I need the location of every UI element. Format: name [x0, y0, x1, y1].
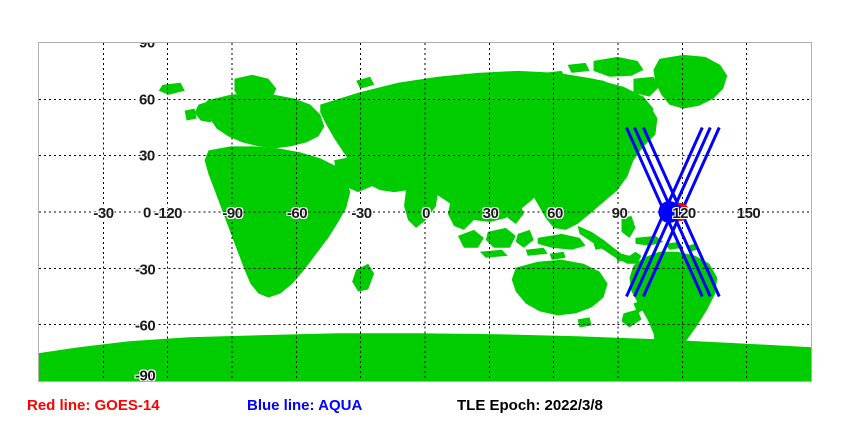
land-ireland: [185, 109, 197, 121]
land-pacific-islet-d: [356, 77, 374, 89]
satellite-ground-track-map: -30 -120 -90 -60 -30 0 30 60 90 120 150 …: [0, 0, 850, 425]
land-sumatra: [458, 230, 484, 248]
lat-tick-label--30: -30: [135, 262, 155, 277]
legend-goes14: Red line: GOES-14: [27, 396, 160, 416]
lon-tick-label-120: 120: [672, 206, 696, 221]
land-tasmania: [578, 317, 592, 327]
lat-tick-label-30: 30: [139, 149, 155, 164]
map-plot-area: -30 -120 -90 -60 -30 0 30 60 90 120 150 …: [38, 42, 812, 382]
lon-tick-label-60: 60: [547, 206, 563, 221]
lat-tick-label-0: 0: [143, 206, 151, 221]
land-sulawesi: [516, 230, 534, 248]
land-indonesia-islet-b: [550, 252, 566, 260]
lon-tick-label--60: -60: [287, 206, 307, 221]
lon-tick-label-150: 150: [737, 206, 761, 221]
land-borneo: [486, 228, 516, 248]
land-new-guinea: [538, 234, 586, 250]
land-greenland: [653, 55, 727, 109]
land-indonesia-islet-a: [526, 248, 548, 256]
land-indochina: [448, 200, 476, 230]
lon-tick-label--30b: -30: [351, 206, 371, 221]
lat-tick-label-90: 90: [139, 42, 155, 51]
lon-tick-label--120: -120: [154, 206, 182, 221]
lon-tick-label--30: -30: [93, 206, 113, 221]
lon-tick-label--90: -90: [222, 206, 242, 221]
lat-tick-label-60: 60: [139, 92, 155, 107]
legend-tle-epoch: TLE Epoch: 2022/3/8: [457, 396, 603, 416]
land-java: [480, 250, 508, 258]
lon-tick-label-90: 90: [612, 206, 628, 221]
lat-tick-label--90: -90: [135, 369, 155, 383]
land-iceland: [159, 83, 185, 95]
lat-tick-label--60: -60: [135, 319, 155, 334]
legend-aqua: Blue line: AQUA: [247, 396, 362, 416]
land-india: [404, 186, 438, 228]
lon-tick-label-30: 30: [483, 206, 499, 221]
land-arctic-islet-a: [568, 63, 590, 73]
lon-tick-label-0: 0: [422, 206, 430, 221]
map-legend: Red line: GOES-14 Blue line: AQUA TLE Ep…: [0, 396, 850, 420]
